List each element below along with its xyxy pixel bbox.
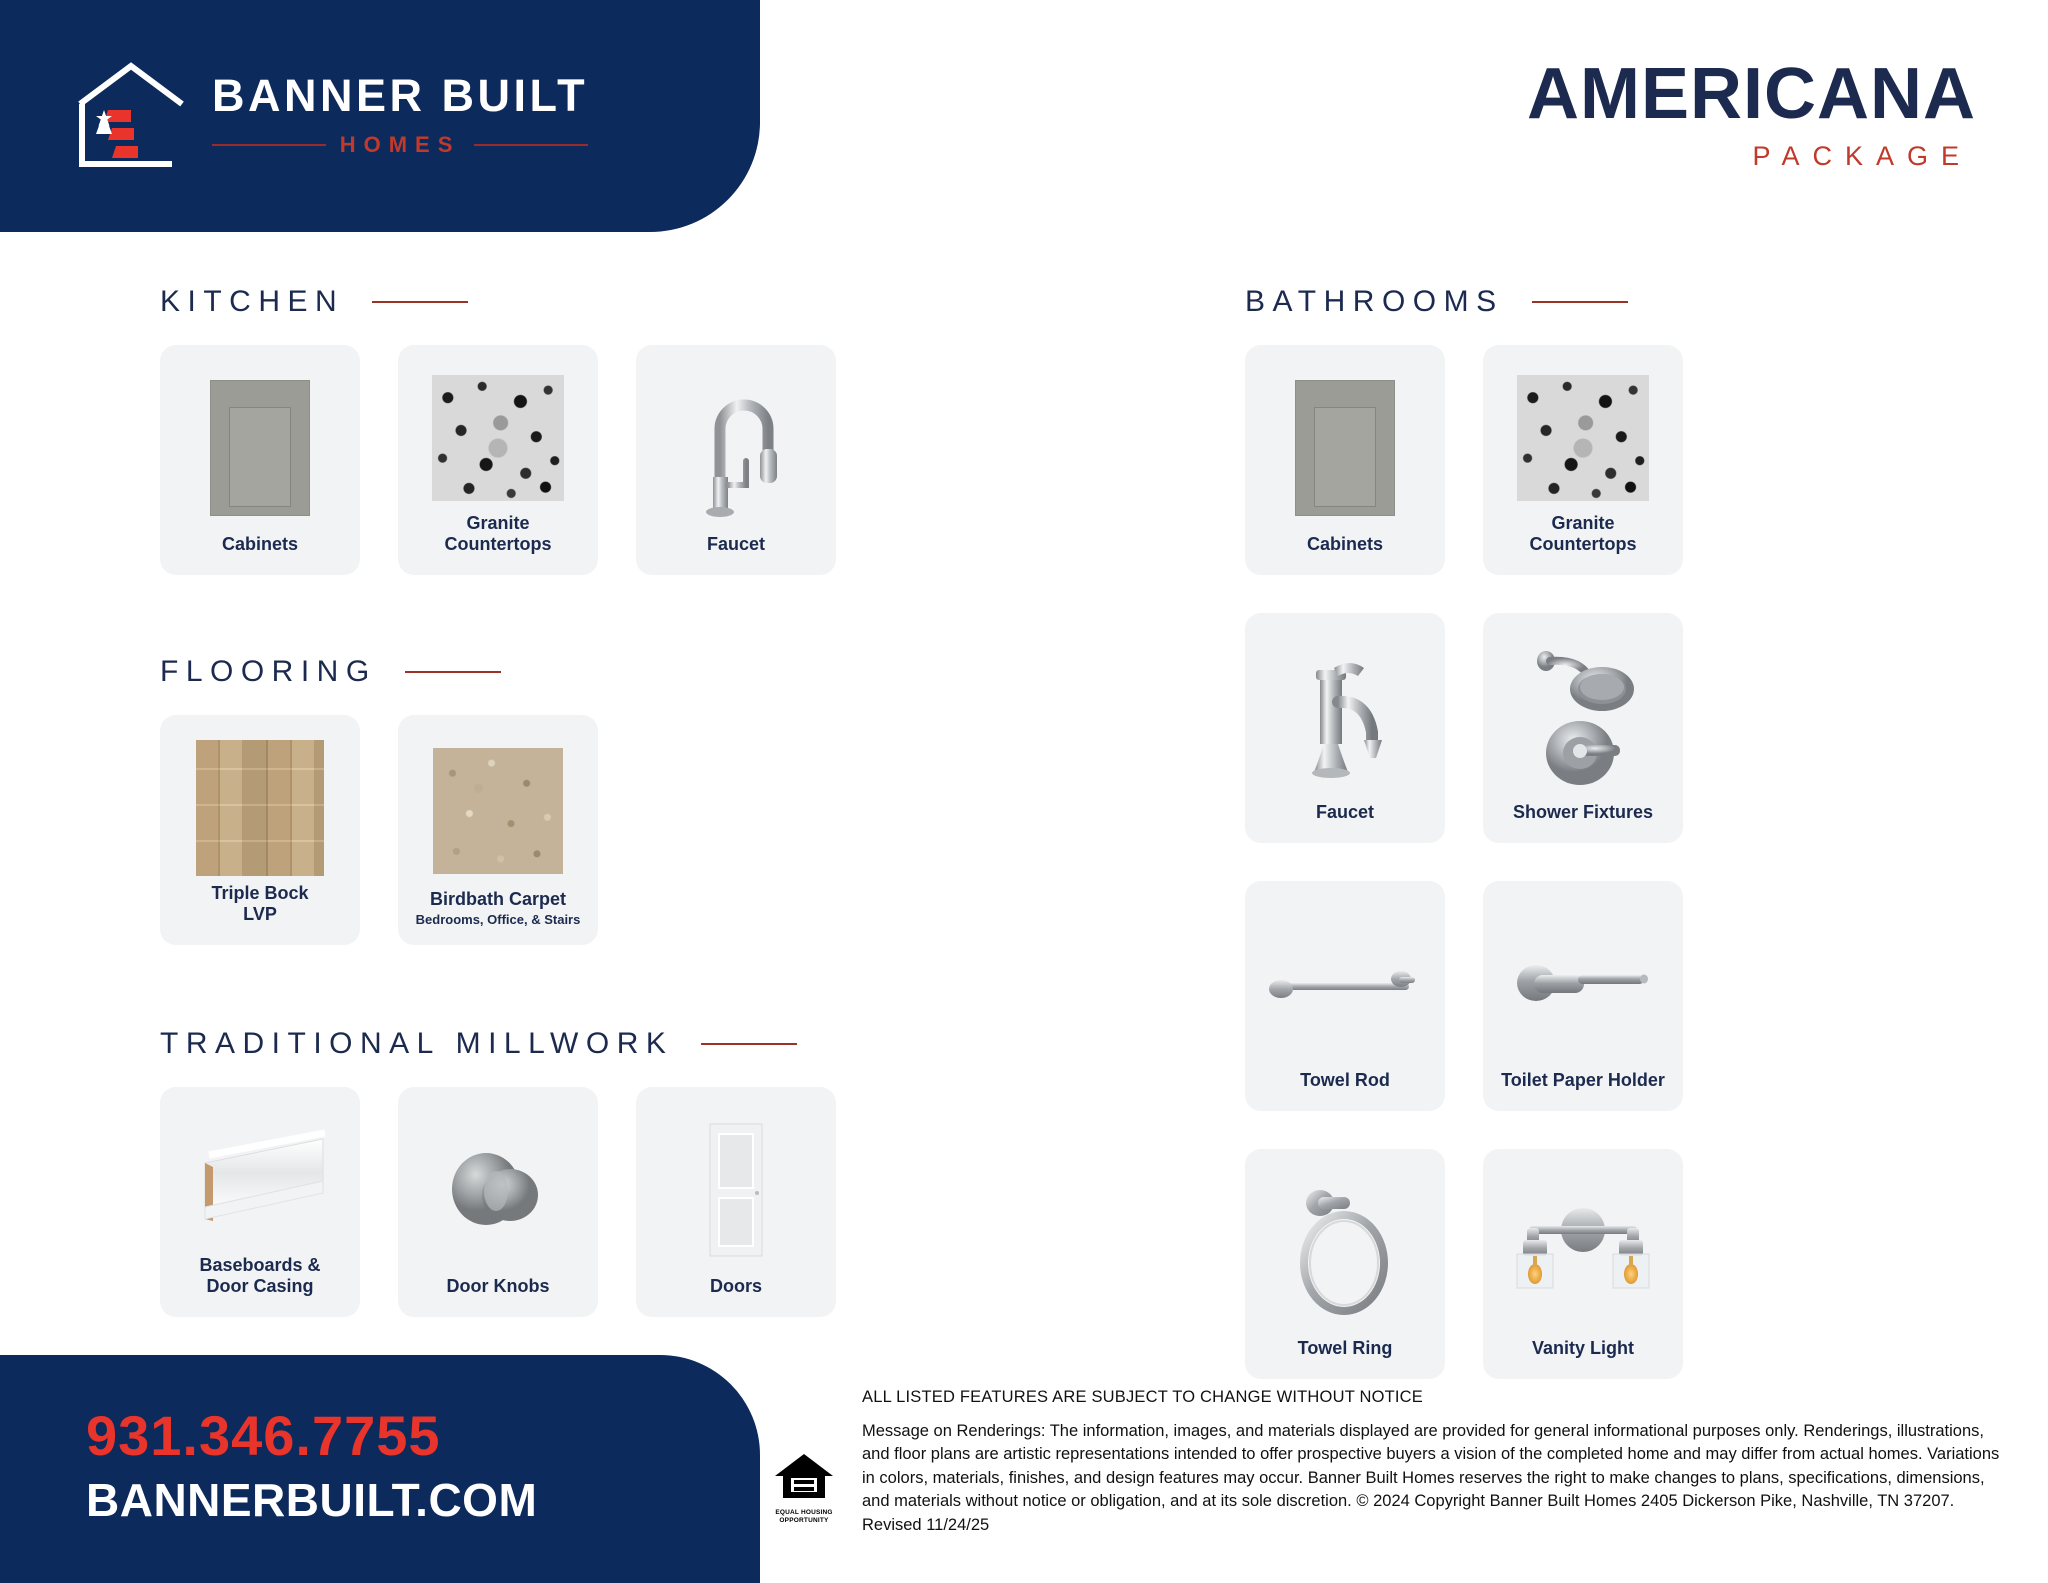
bathrooms-card-grid: Cabinets Granite Countertops bbox=[1245, 345, 1685, 1379]
eho-caption-line1: EQUAL HOUSING bbox=[770, 1510, 838, 1517]
towel-rod-icon bbox=[1253, 899, 1437, 1070]
brand-tagline: HOMES bbox=[340, 132, 461, 158]
shower-fixture-icon bbox=[1491, 631, 1675, 802]
legal-heading: ALL LISTED FEATURES ARE SUBJECT TO CHANG… bbox=[862, 1388, 2002, 1407]
card-kitchen-cabinets[interactable]: Cabinets bbox=[160, 345, 360, 575]
kitchen-faucet-icon bbox=[644, 363, 828, 534]
baseboard-icon bbox=[168, 1105, 352, 1255]
brand-name: BANNER BUILT bbox=[212, 73, 588, 118]
section-rule bbox=[372, 301, 468, 303]
package-title: AMERICANA bbox=[1527, 58, 1976, 131]
card-towel-rod[interactable]: Towel Rod bbox=[1245, 881, 1445, 1111]
card-label: Granite Countertops bbox=[1530, 513, 1637, 565]
card-label: Baseboards & Door Casing bbox=[199, 1255, 320, 1307]
section-rule bbox=[1532, 301, 1628, 303]
section-title-kitchen: KITCHEN bbox=[160, 285, 344, 319]
card-label: Faucet bbox=[1316, 802, 1374, 833]
card-door-knobs[interactable]: Door Knobs bbox=[398, 1087, 598, 1317]
section-header: KITCHEN bbox=[160, 285, 836, 319]
package-title-block: AMERICANA PACKAGE bbox=[1527, 58, 1976, 172]
card-bath-cabinets[interactable]: Cabinets bbox=[1245, 345, 1445, 575]
banner-built-house-icon bbox=[72, 60, 190, 170]
towel-ring-icon bbox=[1253, 1167, 1437, 1338]
toilet-paper-holder-icon bbox=[1491, 899, 1675, 1070]
granite-swatch-icon bbox=[1491, 363, 1675, 513]
card-sublabel: Bedrooms, Office, & Stairs bbox=[416, 913, 581, 935]
card-kitchen-faucet[interactable]: Faucet bbox=[636, 345, 836, 575]
kitchen-card-row: Cabinets Granite Countertops bbox=[160, 345, 836, 575]
section-flooring: FLOORING Triple Bock LVP Birdbath Carpet… bbox=[160, 655, 598, 945]
cabinet-swatch-icon bbox=[168, 363, 352, 534]
card-label: Towel Rod bbox=[1300, 1070, 1390, 1101]
card-label: Cabinets bbox=[1307, 534, 1383, 565]
card-bath-faucet[interactable]: Faucet bbox=[1245, 613, 1445, 843]
card-label: Towel Ring bbox=[1298, 1338, 1393, 1369]
card-kitchen-granite[interactable]: Granite Countertops bbox=[398, 345, 598, 575]
door-icon bbox=[644, 1105, 828, 1276]
section-header: FLOORING bbox=[160, 655, 598, 689]
section-header: TRADITIONAL MILLWORK bbox=[160, 1027, 836, 1061]
card-label: Toilet Paper Holder bbox=[1501, 1070, 1665, 1101]
section-rule bbox=[405, 671, 501, 673]
brand-logo: BANNER BUILT HOMES bbox=[72, 60, 588, 170]
section-title-millwork: TRADITIONAL MILLWORK bbox=[160, 1027, 673, 1061]
vanity-light-icon bbox=[1491, 1167, 1675, 1338]
legal-block: ALL LISTED FEATURES ARE SUBJECT TO CHANG… bbox=[862, 1388, 2002, 1537]
package-subtitle: PACKAGE bbox=[1527, 141, 1976, 172]
section-header: BATHROOMS bbox=[1245, 285, 1685, 319]
card-label-line2: Countertops bbox=[445, 534, 552, 554]
card-label-line2: LVP bbox=[243, 904, 277, 924]
footer-contact: 931.346.7755 BANNERBUILT.COM bbox=[86, 1405, 537, 1527]
millwork-card-row: Baseboards & Door Casing Door Knobs bbox=[160, 1087, 836, 1317]
phone-number[interactable]: 931.346.7755 bbox=[86, 1405, 537, 1467]
card-label: Door Knobs bbox=[447, 1276, 550, 1307]
card-label-line1: Granite bbox=[466, 513, 529, 533]
card-label-line1: Triple Bock bbox=[211, 883, 308, 903]
card-label-line1: Baseboards & bbox=[199, 1255, 320, 1275]
section-title-flooring: FLOORING bbox=[160, 655, 377, 689]
card-label: Granite Countertops bbox=[445, 513, 552, 565]
bath-faucet-icon bbox=[1253, 631, 1437, 802]
brand-rule-right bbox=[474, 144, 588, 146]
card-vanity-light[interactable]: Vanity Light bbox=[1483, 1149, 1683, 1379]
card-label-line1: Granite bbox=[1551, 513, 1614, 533]
legal-body: Message on Renderings: The information, … bbox=[862, 1420, 2002, 1537]
website-url[interactable]: BANNERBUILT.COM bbox=[86, 1473, 537, 1527]
card-label-line2: Countertops bbox=[1530, 534, 1637, 554]
card-label: Cabinets bbox=[222, 534, 298, 565]
card-baseboards[interactable]: Baseboards & Door Casing bbox=[160, 1087, 360, 1317]
card-towel-ring[interactable]: Towel Ring bbox=[1245, 1149, 1445, 1379]
card-toilet-paper-holder[interactable]: Toilet Paper Holder bbox=[1483, 881, 1683, 1111]
section-kitchen: KITCHEN Cabinets Granite Countertops bbox=[160, 285, 836, 575]
section-millwork: TRADITIONAL MILLWORK Baseboards & Door C… bbox=[160, 1027, 836, 1317]
section-title-bathrooms: BATHROOMS bbox=[1245, 285, 1504, 319]
cabinet-swatch-icon bbox=[1253, 363, 1437, 534]
card-label: Vanity Light bbox=[1532, 1338, 1634, 1369]
card-doors[interactable]: Doors bbox=[636, 1087, 836, 1317]
brand-rule-left bbox=[212, 144, 326, 146]
card-label: Doors bbox=[710, 1276, 762, 1307]
card-flooring-carpet[interactable]: Birdbath Carpet Bedrooms, Office, & Stai… bbox=[398, 715, 598, 945]
card-label: Faucet bbox=[707, 534, 765, 565]
granite-swatch-icon bbox=[406, 363, 590, 513]
card-shower-fixtures[interactable]: Shower Fixtures bbox=[1483, 613, 1683, 843]
carpet-swatch-icon bbox=[406, 733, 590, 889]
card-label: Shower Fixtures bbox=[1513, 802, 1653, 833]
card-bath-granite[interactable]: Granite Countertops bbox=[1483, 345, 1683, 575]
equal-housing-opportunity-logo: EQUAL HOUSING OPPORTUNITY bbox=[770, 1452, 838, 1525]
brochure-page: BANNER BUILT HOMES AMERICANA PACKAGE KIT… bbox=[0, 0, 2048, 1583]
section-rule bbox=[701, 1043, 797, 1045]
card-label-line2: Door Casing bbox=[206, 1276, 313, 1296]
card-flooring-lvp[interactable]: Triple Bock LVP bbox=[160, 715, 360, 945]
section-bathrooms: BATHROOMS Cabinets Granite Countertops bbox=[1245, 285, 1685, 1379]
eho-caption-line2: OPPORTUNITY bbox=[770, 1518, 838, 1525]
door-knob-icon bbox=[406, 1105, 590, 1276]
lvp-swatch-icon bbox=[168, 733, 352, 883]
flooring-card-row: Triple Bock LVP Birdbath Carpet Bedrooms… bbox=[160, 715, 598, 945]
card-label: Triple Bock LVP bbox=[211, 883, 308, 935]
